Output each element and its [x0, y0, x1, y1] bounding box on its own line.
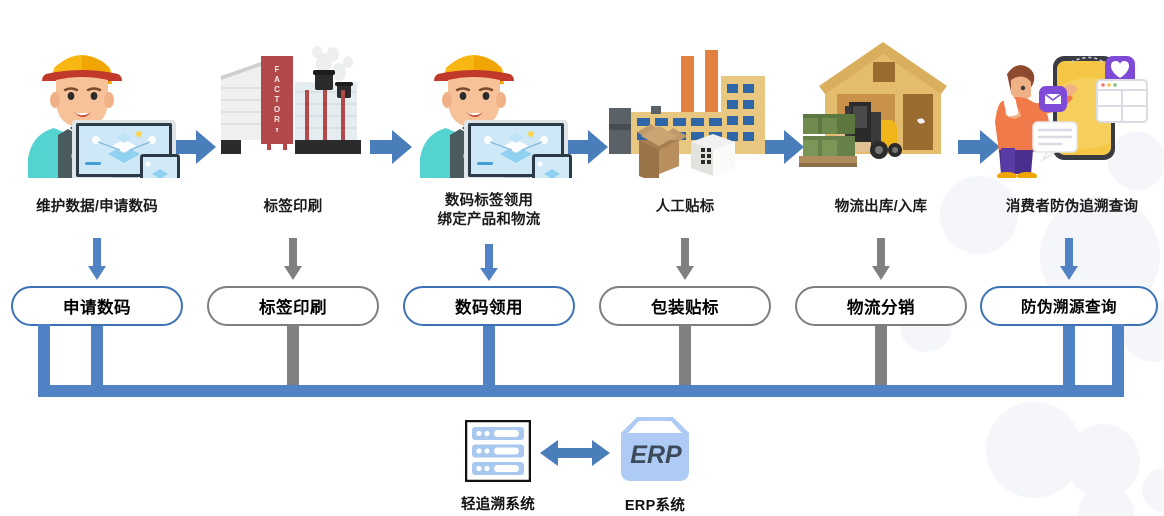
packaging-plant-icon	[595, 28, 775, 178]
system-erp[interactable]: ERP ERP系统	[600, 415, 710, 515]
worker-at-computer-icon	[12, 28, 182, 178]
down-arrow-icon	[283, 238, 303, 284]
step-5-caption: 物流出库/入库	[776, 198, 986, 217]
svg-text:R: R	[274, 115, 280, 124]
system-label: 轻追溯系统	[448, 493, 548, 514]
step-1-caption: 维护数据/申请数码	[0, 198, 202, 217]
flow-step-1: 维护数据/申请数码 申请数码	[0, 0, 194, 516]
step-5-illustration	[784, 28, 978, 178]
system-light-trace[interactable]: 轻追溯系统	[448, 420, 548, 514]
svg-text:T: T	[275, 95, 280, 104]
factory-building-icon: FAC TORY	[203, 28, 383, 178]
svg-text:F: F	[275, 65, 280, 74]
caption-line: 消费者防伪追溯查询	[967, 198, 1164, 217]
step-4-caption: 人工贴标	[580, 198, 790, 217]
erp-badge-text: ERP	[630, 441, 682, 469]
consumer-phone-scan-icon	[979, 28, 1159, 178]
stem-connector	[91, 324, 103, 388]
down-arrow-icon	[675, 238, 695, 284]
caption-line: 数码标签领用	[384, 192, 594, 211]
pill-label: 申请数码	[63, 294, 131, 318]
down-arrow-icon	[871, 238, 891, 284]
stem-connector	[1063, 324, 1075, 388]
step-1-illustration	[0, 28, 194, 178]
down-arrow-icon	[87, 238, 107, 284]
flow-step-2: FAC TORY	[196, 0, 390, 516]
step-4-illustration	[588, 28, 782, 178]
main-bus-line	[38, 385, 1124, 397]
down-arrow-icon	[1059, 238, 1079, 284]
step-6-caption: 消费者防伪追溯查询	[967, 198, 1164, 217]
step-3-illustration	[392, 28, 586, 178]
system-label: ERP系统	[600, 494, 710, 515]
step-3-caption: 数码标签领用 绑定产品和物流	[384, 192, 594, 230]
bus-left-riser	[38, 324, 50, 388]
stage-pill-fangweisuyuanchaxun[interactable]: 防伪溯源查询	[980, 286, 1158, 326]
flow-step-5: 物流出库/入库 物流分销	[784, 0, 978, 516]
pill-label: 防伪溯源查询	[1021, 295, 1117, 317]
step-6-illustration	[972, 28, 1164, 178]
pill-label: 包装贴标	[651, 294, 719, 318]
caption-line: 人工贴标	[580, 198, 790, 217]
step-2-caption: 标签印刷	[188, 198, 398, 217]
down-arrow-icon	[479, 244, 499, 284]
caption-line: 维护数据/申请数码	[0, 198, 202, 217]
svg-text:C: C	[274, 85, 280, 94]
stem-connector	[483, 324, 495, 388]
erp-box-icon: ERP	[619, 415, 691, 483]
stem-connector	[875, 324, 887, 388]
stage-pill-shumalingyong[interactable]: 数码领用	[403, 286, 575, 326]
server-rack-icon	[465, 420, 531, 482]
stage-pill-baozhuangtiebiao[interactable]: 包装贴标	[599, 286, 771, 326]
caption-line: 物流出库/入库	[776, 198, 986, 217]
step-2-illustration: FAC TORY	[196, 28, 390, 178]
pill-label: 数码领用	[455, 294, 523, 318]
stem-connector	[679, 324, 691, 388]
stage-pill-biaoqianyinshua[interactable]: 标签印刷	[207, 286, 379, 326]
svg-text:O: O	[274, 105, 280, 114]
stem-connector	[287, 324, 299, 388]
pill-label: 标签印刷	[259, 294, 327, 318]
caption-line: 标签印刷	[188, 198, 398, 217]
warehouse-forklift-icon	[791, 28, 971, 178]
caption-line: 绑定产品和物流	[384, 211, 594, 230]
bus-right-riser	[1112, 324, 1124, 388]
stage-pill-wuliufenxiao[interactable]: 物流分销	[795, 286, 967, 326]
flow-step-6: 消费者防伪追溯查询 防伪溯源查询	[972, 0, 1164, 516]
worker-at-computer-icon	[404, 28, 574, 178]
pill-label: 物流分销	[847, 294, 915, 318]
stage-pill-shenqingshuma[interactable]: 申请数码	[11, 286, 183, 326]
svg-text:A: A	[274, 75, 280, 84]
flow-diagram-canvas: 维护数据/申请数码 申请数码	[0, 0, 1164, 516]
